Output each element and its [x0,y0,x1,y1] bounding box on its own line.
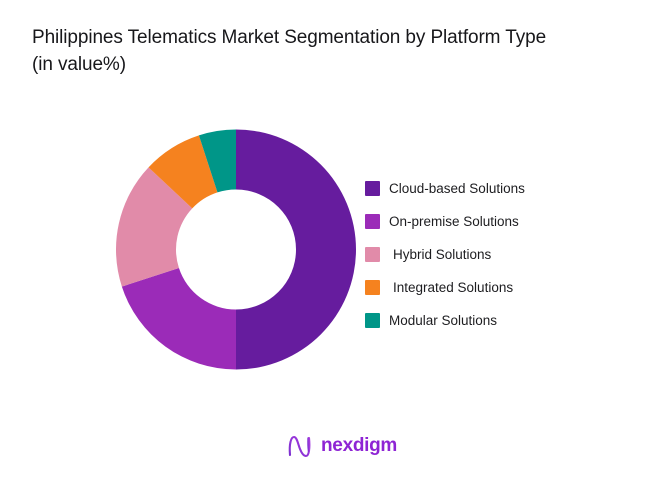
legend-label-integrated-solutions: Integrated Solutions [393,280,513,296]
donut-slice-group [116,130,356,370]
legend-label-modular-solutions: Modular Solutions [389,313,497,329]
donut-chart [116,129,356,370]
chart-legend: Cloud-based Solutions On-premise Solutio… [365,172,615,337]
legend-label-cloud-based-solutions: Cloud-based Solutions [389,181,525,197]
legend-swatch-integrated-solutions [365,280,380,295]
legend-item-integrated-solutions[interactable]: Integrated Solutions [365,271,615,304]
legend-swatch-hybrid-solutions [365,247,380,262]
donut-chart-svg [116,129,356,370]
chart-title: Philippines Telematics Market Segmentati… [32,24,632,78]
legend-item-cloud-based-solutions[interactable]: Cloud-based Solutions [365,172,615,205]
donut-slice-cloud-based-solutions[interactable] [236,130,356,370]
legend-item-hybrid-solutions[interactable]: Hybrid Solutions [365,238,615,271]
nexdigm-n-wave-icon [286,434,314,458]
chart-page: Philippines Telematics Market Segmentati… [0,0,654,479]
legend-swatch-on-premise-solutions [365,214,380,229]
legend-label-on-premise-solutions: On-premise Solutions [389,214,519,230]
legend-swatch-cloud-based-solutions [365,181,380,196]
donut-slice-on-premise-solutions[interactable] [122,268,236,369]
legend-item-on-premise-solutions[interactable]: On-premise Solutions [365,205,615,238]
nexdigm-logo: nexdigm [286,432,397,460]
legend-label-hybrid-solutions: Hybrid Solutions [393,247,491,263]
nexdigm-wordmark: nexdigm [321,436,397,456]
legend-item-modular-solutions[interactable]: Modular Solutions [365,304,615,337]
legend-swatch-modular-solutions [365,313,380,328]
